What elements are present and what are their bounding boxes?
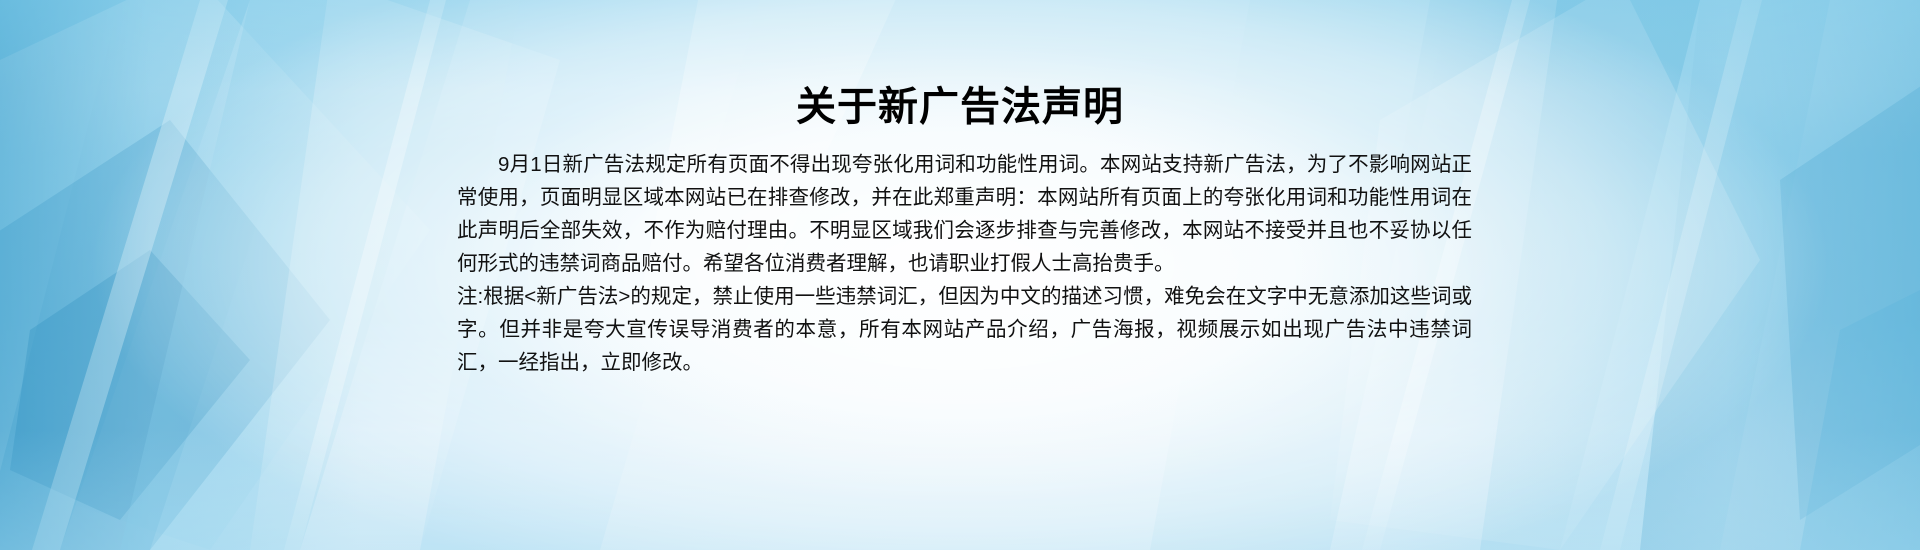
advertising-law-banner: 关于新广告法声明 9月1日新广告法规定所有页面不得出现夸张化用词和功能性用词。本…	[0, 0, 1920, 550]
page-title: 关于新广告法声明	[0, 84, 1920, 131]
statement-paragraph-2: 注:根据<新广告法>的规定，禁止使用一些违禁词汇，但因为中文的描述习惯，难免会在…	[457, 280, 1472, 379]
statement-body: 9月1日新广告法规定所有页面不得出现夸张化用词和功能性用词。本网站支持新广告法，…	[457, 148, 1472, 379]
statement-paragraph-1: 9月1日新广告法规定所有页面不得出现夸张化用词和功能性用词。本网站支持新广告法，…	[457, 148, 1472, 280]
banner-content: 关于新广告法声明 9月1日新广告法规定所有页面不得出现夸张化用词和功能性用词。本…	[0, 0, 1920, 550]
